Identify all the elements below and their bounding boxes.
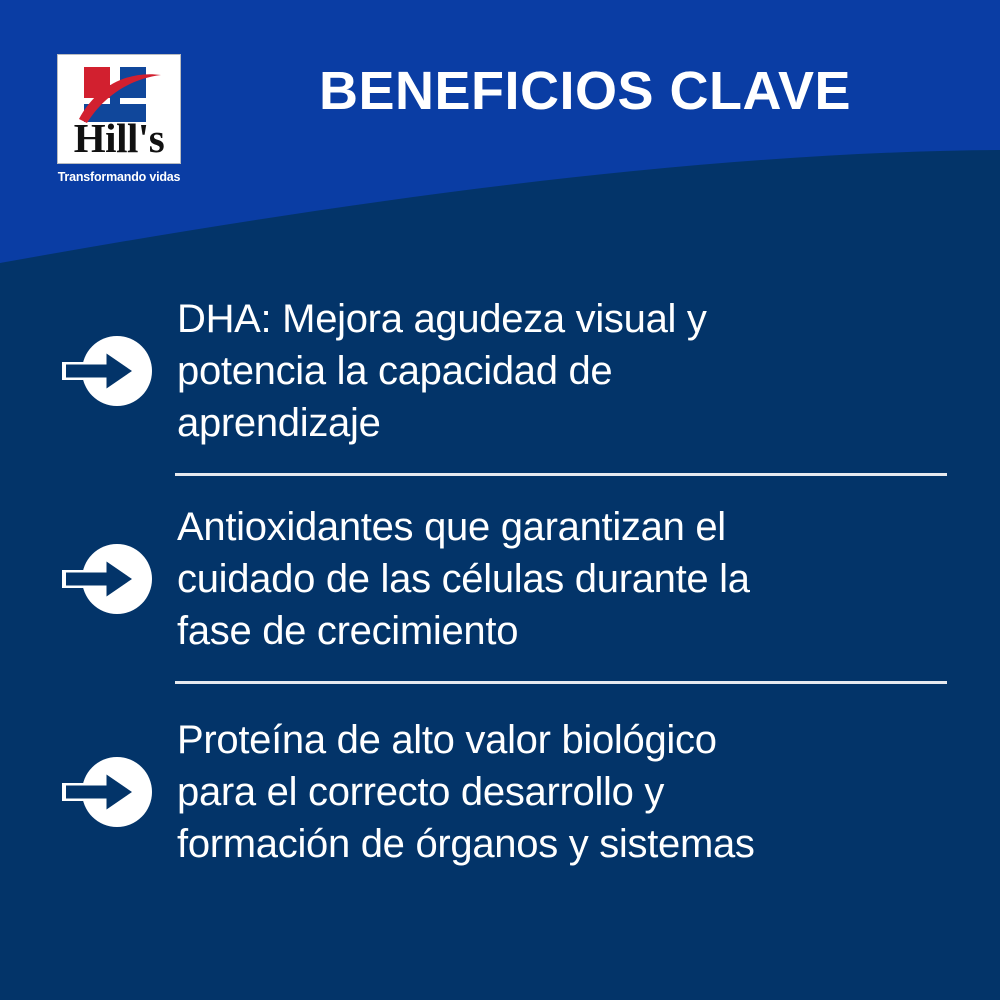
brand-wordmark: Hill's [58, 118, 180, 159]
circle-arrow-right-icon [62, 331, 177, 411]
circle-arrow-right-icon [62, 539, 177, 619]
circle-arrow-right-icon [62, 752, 177, 832]
brand-logo-lockup: Hill's Transformando vidas [57, 54, 185, 184]
brand-tagline: Transformando vidas [57, 170, 181, 184]
logo-box: Hill's [57, 54, 181, 164]
list-item: Antioxidantes que garantizan el cuidado … [0, 476, 1000, 681]
benefits-poster: Hill's Transformando vidas BENEFICIOS CL… [0, 0, 1000, 1000]
benefit-text: Proteína de alto valor biológico para el… [177, 714, 1000, 870]
page-title: BENEFICIOS CLAVE [220, 62, 950, 120]
benefit-text: DHA: Mejora agudeza visual y potencia la… [177, 293, 1000, 449]
list-item: Proteína de alto valor biológico para el… [0, 684, 1000, 899]
benefit-text: Antioxidantes que garantizan el cuidado … [177, 501, 1000, 657]
benefits-list: DHA: Mejora agudeza visual y potencia la… [0, 268, 1000, 899]
list-item: DHA: Mejora agudeza visual y potencia la… [0, 268, 1000, 473]
